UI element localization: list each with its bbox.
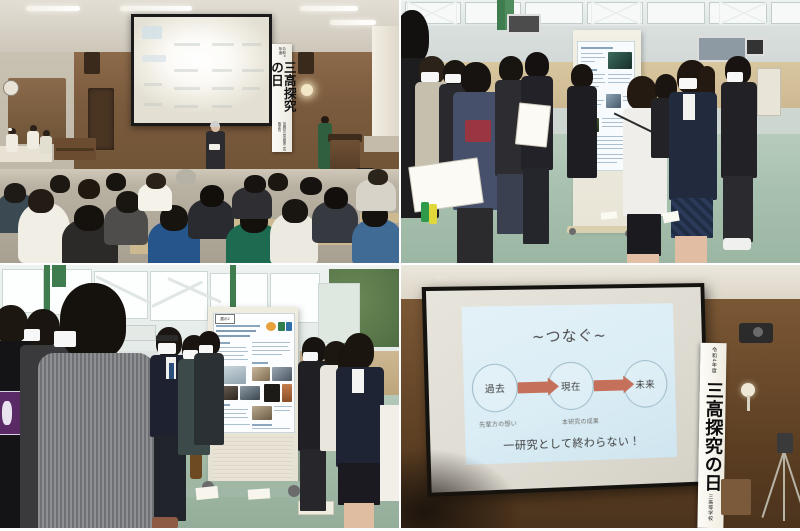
ceiling-light [120,6,192,11]
research-poster: 展示2 [213,313,295,433]
photo-projected-slide: ~つなぐ~ 過去 現在 未来 先輩方の想い 本研究の成果 一研究として終わらない… [401,265,800,528]
gym-window [647,2,705,24]
necktie [169,363,174,379]
tripod-leg [783,451,785,521]
poster-text-line [581,57,605,58]
audience-person [50,175,70,193]
person-head [525,52,549,78]
wall-speaker [298,52,314,74]
poster-image [272,367,292,381]
poster-title-line [216,330,256,332]
audience-person [324,187,348,209]
poster-text-line [252,346,288,347]
poster-image [252,367,270,381]
audience-person [368,169,388,185]
person-body [194,353,224,445]
checked-shirt [38,353,154,528]
audience-person [146,173,166,189]
person-shoes [723,238,751,250]
poster-text-line [274,406,292,407]
poster-header-label: 展示2 [215,314,235,324]
face-mask [421,72,439,82]
crowd-person [196,331,222,471]
audience-person [244,175,266,193]
slide-text-line [174,105,198,108]
tshirt-figure [2,401,12,425]
person-body [6,134,18,152]
tripod-leg [783,451,800,518]
slide-text-line [212,43,234,46]
presenter-student [336,333,380,528]
poster-text-line [252,428,290,429]
slide-text-line [174,87,200,90]
hoodie-print [465,120,491,142]
floor-paper [248,488,271,500]
person-legs [627,254,659,263]
caption-past: 先輩方の想い [479,419,517,429]
banner-school-text: 宮崎県立宮崎第三高等学校 [277,122,287,152]
person-legs [675,236,707,263]
person-legs [497,174,523,234]
banner-year-text: 令和4年度 [278,47,285,60]
stage-curtain [372,26,399,146]
foreground-shadow [401,448,521,528]
slide-text-line [242,43,262,46]
roof-truss [719,1,769,25]
person-head [571,64,593,88]
photo-lecture-hall: 令和4年度 三高探究の日 宮崎県立宮崎第三高等学校 [0,0,399,263]
poster-text-line [252,342,290,343]
poster-image [264,384,280,402]
presenter-student [669,60,715,260]
audience-person [300,177,322,195]
audience-person [116,191,140,213]
marker-pen [421,202,429,222]
slide-text-line [242,87,260,90]
wall-lamp [301,84,313,96]
poster-logo [286,322,292,331]
audience-person [200,185,224,207]
person-head [60,283,126,359]
face-mask [24,329,40,341]
person-body [40,136,52,154]
ceiling-light [300,6,358,11]
poster-text-line [252,354,282,355]
person-body [27,131,39,149]
poster-title-line [216,325,260,327]
side-table [364,136,399,152]
photo-poster-session-a: 展示2 [401,0,800,263]
poster-logo [278,322,285,331]
clipboard [408,157,484,212]
person-skirt [627,214,661,256]
slide-captions: 先輩方の想い 本研究の成果 [465,414,677,433]
gym-window [150,271,208,321]
audience-person [4,183,26,203]
poster-image [282,384,292,402]
ceiling-fixture [435,275,449,281]
poster-section-head [252,424,272,426]
crowd-person [569,64,595,204]
projector-lens [753,327,763,337]
slide-text-line [174,69,198,72]
banner-year-text: 令和4年度 [710,347,716,379]
audience-person [268,173,288,191]
tripod-head [777,433,793,453]
audience-seating [0,169,399,263]
caption-present: 本研究の成果 [562,416,599,426]
roof-truss [591,1,641,25]
shirt-collar [352,369,364,393]
audience-person [78,179,100,199]
eyeglasses [156,335,178,341]
poster-text-line [581,53,603,54]
person-legs [523,168,549,244]
board-caster [288,485,300,497]
person-body [721,82,757,178]
poster-image [606,94,621,108]
lamp-arm [747,395,750,411]
folding-chair [721,479,751,515]
person-legs [344,503,374,528]
shirt-collar [683,94,695,120]
crowd-person [721,56,753,220]
banner-title-text: 三高探究の日 [702,381,722,492]
person-legs [723,176,753,242]
foreground-person [46,283,146,528]
photo-poster-session-b: 展示2 [0,265,399,528]
slide-text-line [174,43,200,46]
photo-collage: 令和4年度 三高探究の日 宮崎県立宮崎第三高等学校 [0,0,800,531]
presenter-notes [209,144,220,150]
person-shoes [152,517,178,528]
slide-thumbnail-block [142,55,166,62]
ceiling-light [330,20,376,25]
projection-screen [131,14,272,126]
gym-equipment-box [745,38,765,56]
audience-person [28,189,54,213]
face-mask [54,331,76,347]
board-caster [569,228,576,235]
stage-bench [54,138,96,160]
flow-node-past: 過去 [471,363,518,413]
poster-text-line [252,350,290,351]
poster-text-line [581,61,595,62]
person-head [499,56,523,82]
slide-text-line [144,83,162,86]
floor-paper [195,486,218,500]
person-legs [457,208,493,263]
flow-arrow-1 [518,381,549,393]
wall-clock-icon [3,80,19,96]
seated-person [40,130,52,156]
clipboard [515,102,551,147]
poster-image [240,386,260,400]
gym-equipment-box [507,14,541,34]
slide-flow-diagram: 過去 現在 未来 [471,361,668,412]
poster-header-label: 展示2 [579,41,597,42]
poster-text-line [608,74,632,75]
face-mask [303,352,318,361]
slide-text-line [242,69,264,72]
flow-arrow-2 [593,379,623,391]
banner-school-text: 三高等学校 [707,494,714,521]
marker-pen [429,204,437,224]
audience-person [106,173,126,191]
projection-screen-surface [134,17,269,123]
presentation-slide: ~つなぐ~ 過去 現在 未来 先輩方の想い 本研究の成果 一研究として終わらない… [461,303,677,465]
poster-image [252,406,272,420]
face-mask [679,78,697,89]
poster-logo [266,322,276,331]
person-partial [380,405,399,501]
face-mask [8,128,12,131]
audience-person [74,205,104,231]
banner-title-text: 三高探究の日 [269,61,295,121]
audience-person [282,199,308,223]
audience-person [176,169,196,185]
slide-title: ~つなぐ~ [462,323,674,348]
person-head [461,62,491,94]
poster-text-line [274,410,290,411]
poster-section-head [252,362,268,364]
poster-image [608,52,632,69]
presenter-hair [210,121,220,127]
slide-text-line [212,87,234,90]
gym-window [771,2,800,24]
poster-title-line [581,47,613,49]
seated-person [27,125,39,151]
wall-speaker [84,52,100,74]
person-body [567,86,597,178]
crowd-person [457,62,493,242]
slide-text-line [144,103,162,106]
slide-thumbnail-block [142,26,162,39]
pegboard-panel [213,435,293,481]
ceiling-light [26,6,80,11]
seated-person [6,128,18,154]
face-mask [727,72,743,82]
presenter-head [211,122,220,132]
event-banner: 令和4年度 三高探究の日 宮崎県立宮崎第三高等学校 [272,44,292,152]
gym-door [757,68,781,116]
pleated-skirt [338,463,380,505]
face-mask [158,343,176,354]
slide-text-line [212,105,232,108]
slide-text-line [212,69,232,72]
camera-tripod [769,433,799,525]
